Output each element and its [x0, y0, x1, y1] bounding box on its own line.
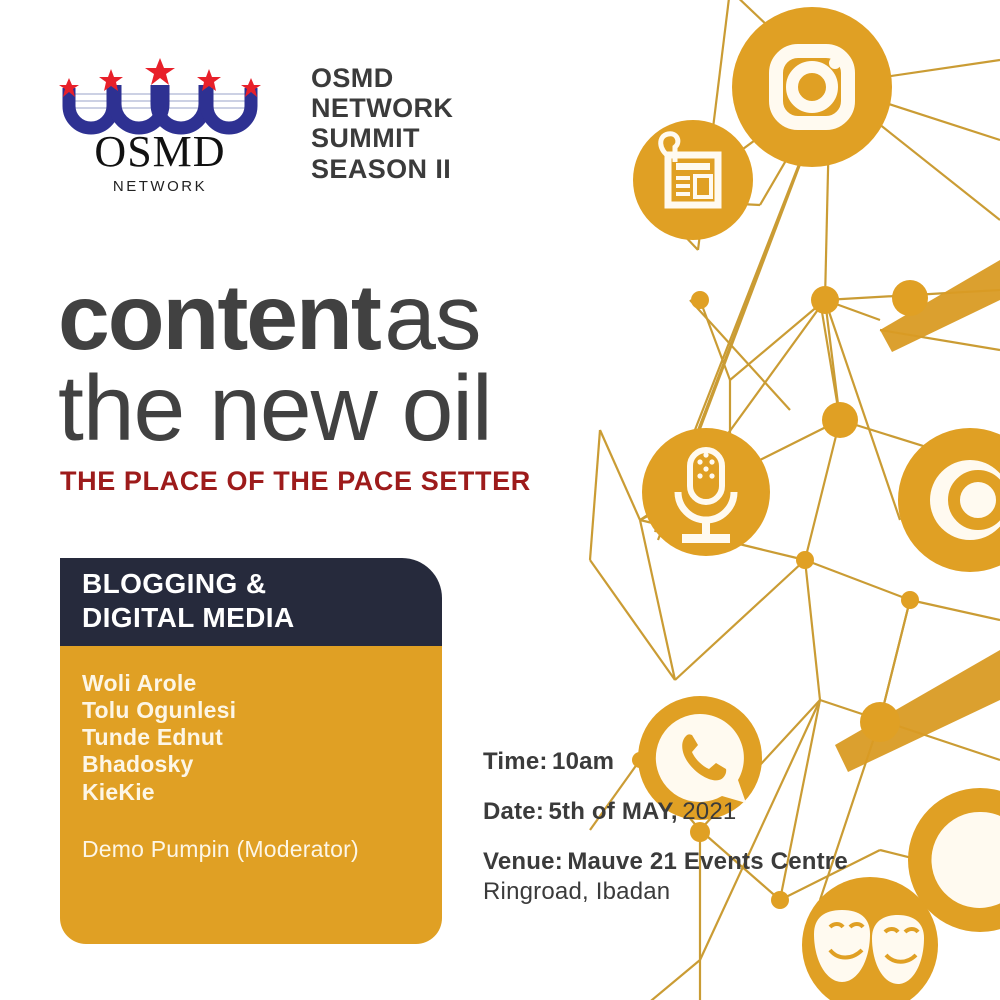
date-year: 2021	[682, 798, 736, 825]
instagram-icon	[732, 7, 892, 167]
venue-address: Ringroad, Ibadan	[483, 878, 848, 906]
headline-subtitle: THE PLACE OF THE PACE SETTER	[60, 466, 531, 497]
venue-value: Mauve 21 Events Centre	[567, 848, 848, 875]
list-item: Tolu Ogunlesi	[82, 697, 442, 724]
date-label: Date:	[483, 798, 544, 825]
chat-bubble-icon	[908, 788, 1000, 932]
headline-line-1: content as	[58, 272, 492, 363]
logo-subtext: NETWORK	[45, 178, 275, 195]
date-value: 5th of MAY,	[548, 798, 677, 825]
headline-phrase-the-new-oil: the new oil	[58, 356, 492, 460]
headline-word-as: as	[384, 265, 480, 369]
list-item: KieKie	[82, 779, 442, 806]
session-card-header: BLOGGING & DIGITAL MEDIA	[60, 558, 442, 646]
detail-row-date: Date: 5th of MAY, 2021	[483, 798, 848, 826]
list-item: Bhadosky	[82, 751, 442, 778]
microphone-icon	[642, 428, 770, 556]
session-card-body: Woli Arole Tolu Ogunlesi Tunde Ednut Bha…	[60, 646, 442, 944]
moderator-label: Demo Pumpin (Moderator)	[82, 836, 442, 863]
venue-label: Venue:	[483, 848, 563, 875]
headline-word-content: content	[58, 265, 380, 369]
list-item: Tunde Ednut	[82, 724, 442, 751]
session-title-line-1: BLOGGING &	[82, 567, 442, 601]
session-title-line-2: DIGITAL MEDIA	[82, 601, 442, 635]
headline-line-2: the new oil	[58, 363, 492, 454]
session-card: BLOGGING & DIGITAL MEDIA Woli Arole Tolu…	[60, 558, 442, 944]
event-details: Time: 10am Date: 5th of MAY, 2021 Venue:…	[483, 748, 848, 906]
poster-canvas: OSMD NETWORK OSMD NETWORK SUMMIT SEASON …	[0, 0, 1000, 1000]
event-title: OSMD NETWORK SUMMIT SEASON II	[311, 63, 453, 184]
list-item: Woli Arole	[82, 670, 442, 697]
time-label: Time:	[483, 748, 548, 775]
detail-row-venue: Venue: Mauve 21 Events Centre Ringroad, …	[483, 848, 848, 906]
event-title-line-3: SUMMIT	[311, 123, 453, 153]
camera-lens-icon	[898, 428, 1000, 572]
event-title-line-2: NETWORK	[311, 93, 453, 123]
headline: content as the new oil	[58, 272, 492, 454]
event-title-line-1: OSMD	[311, 63, 453, 93]
event-title-line-4: SEASON II	[311, 154, 453, 184]
detail-row-time: Time: 10am	[483, 748, 848, 776]
logo-wordmark: OSMD	[45, 130, 275, 174]
osmd-logo: OSMD NETWORK	[45, 52, 275, 202]
time-value: 10am	[552, 748, 614, 775]
newspaper-icon	[633, 120, 753, 240]
